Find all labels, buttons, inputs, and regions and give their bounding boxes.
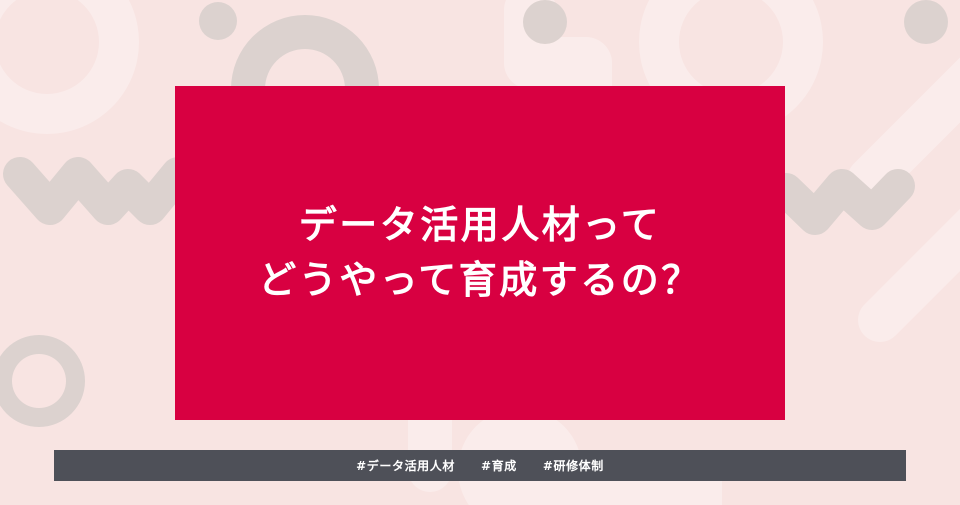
dot-top-center [523, 0, 567, 44]
page-title: データ活用人材って どうやって育成するの？ [258, 198, 702, 308]
zigzag-right [786, 186, 898, 218]
tag-item-1[interactable]: #データ活用人材 [356, 457, 455, 474]
tag-item-3[interactable]: #研修体制 [543, 457, 604, 474]
dot-top-right [904, 0, 948, 44]
ring-outline-bottom-left [0, 335, 85, 427]
tag-bar: #データ活用人材 #育成 #研修体制 [54, 450, 906, 481]
ring-outline-top-left [0, 0, 139, 134]
dot-top-left [199, 2, 237, 40]
tag-item-2[interactable]: #育成 [481, 457, 517, 474]
title-line-2: どうやって育成するの？ [258, 253, 702, 308]
hero-card: データ活用人材って どうやって育成するの？ [175, 86, 785, 420]
diagonal-stripe-bottom-right [880, 220, 960, 320]
diagonal-stripe-right [870, 40, 960, 300]
slide-canvas: データ活用人材って どうやって育成するの？ #データ活用人材 #育成 #研修体制 [0, 0, 960, 505]
title-line-1: データ活用人材って [258, 198, 702, 253]
